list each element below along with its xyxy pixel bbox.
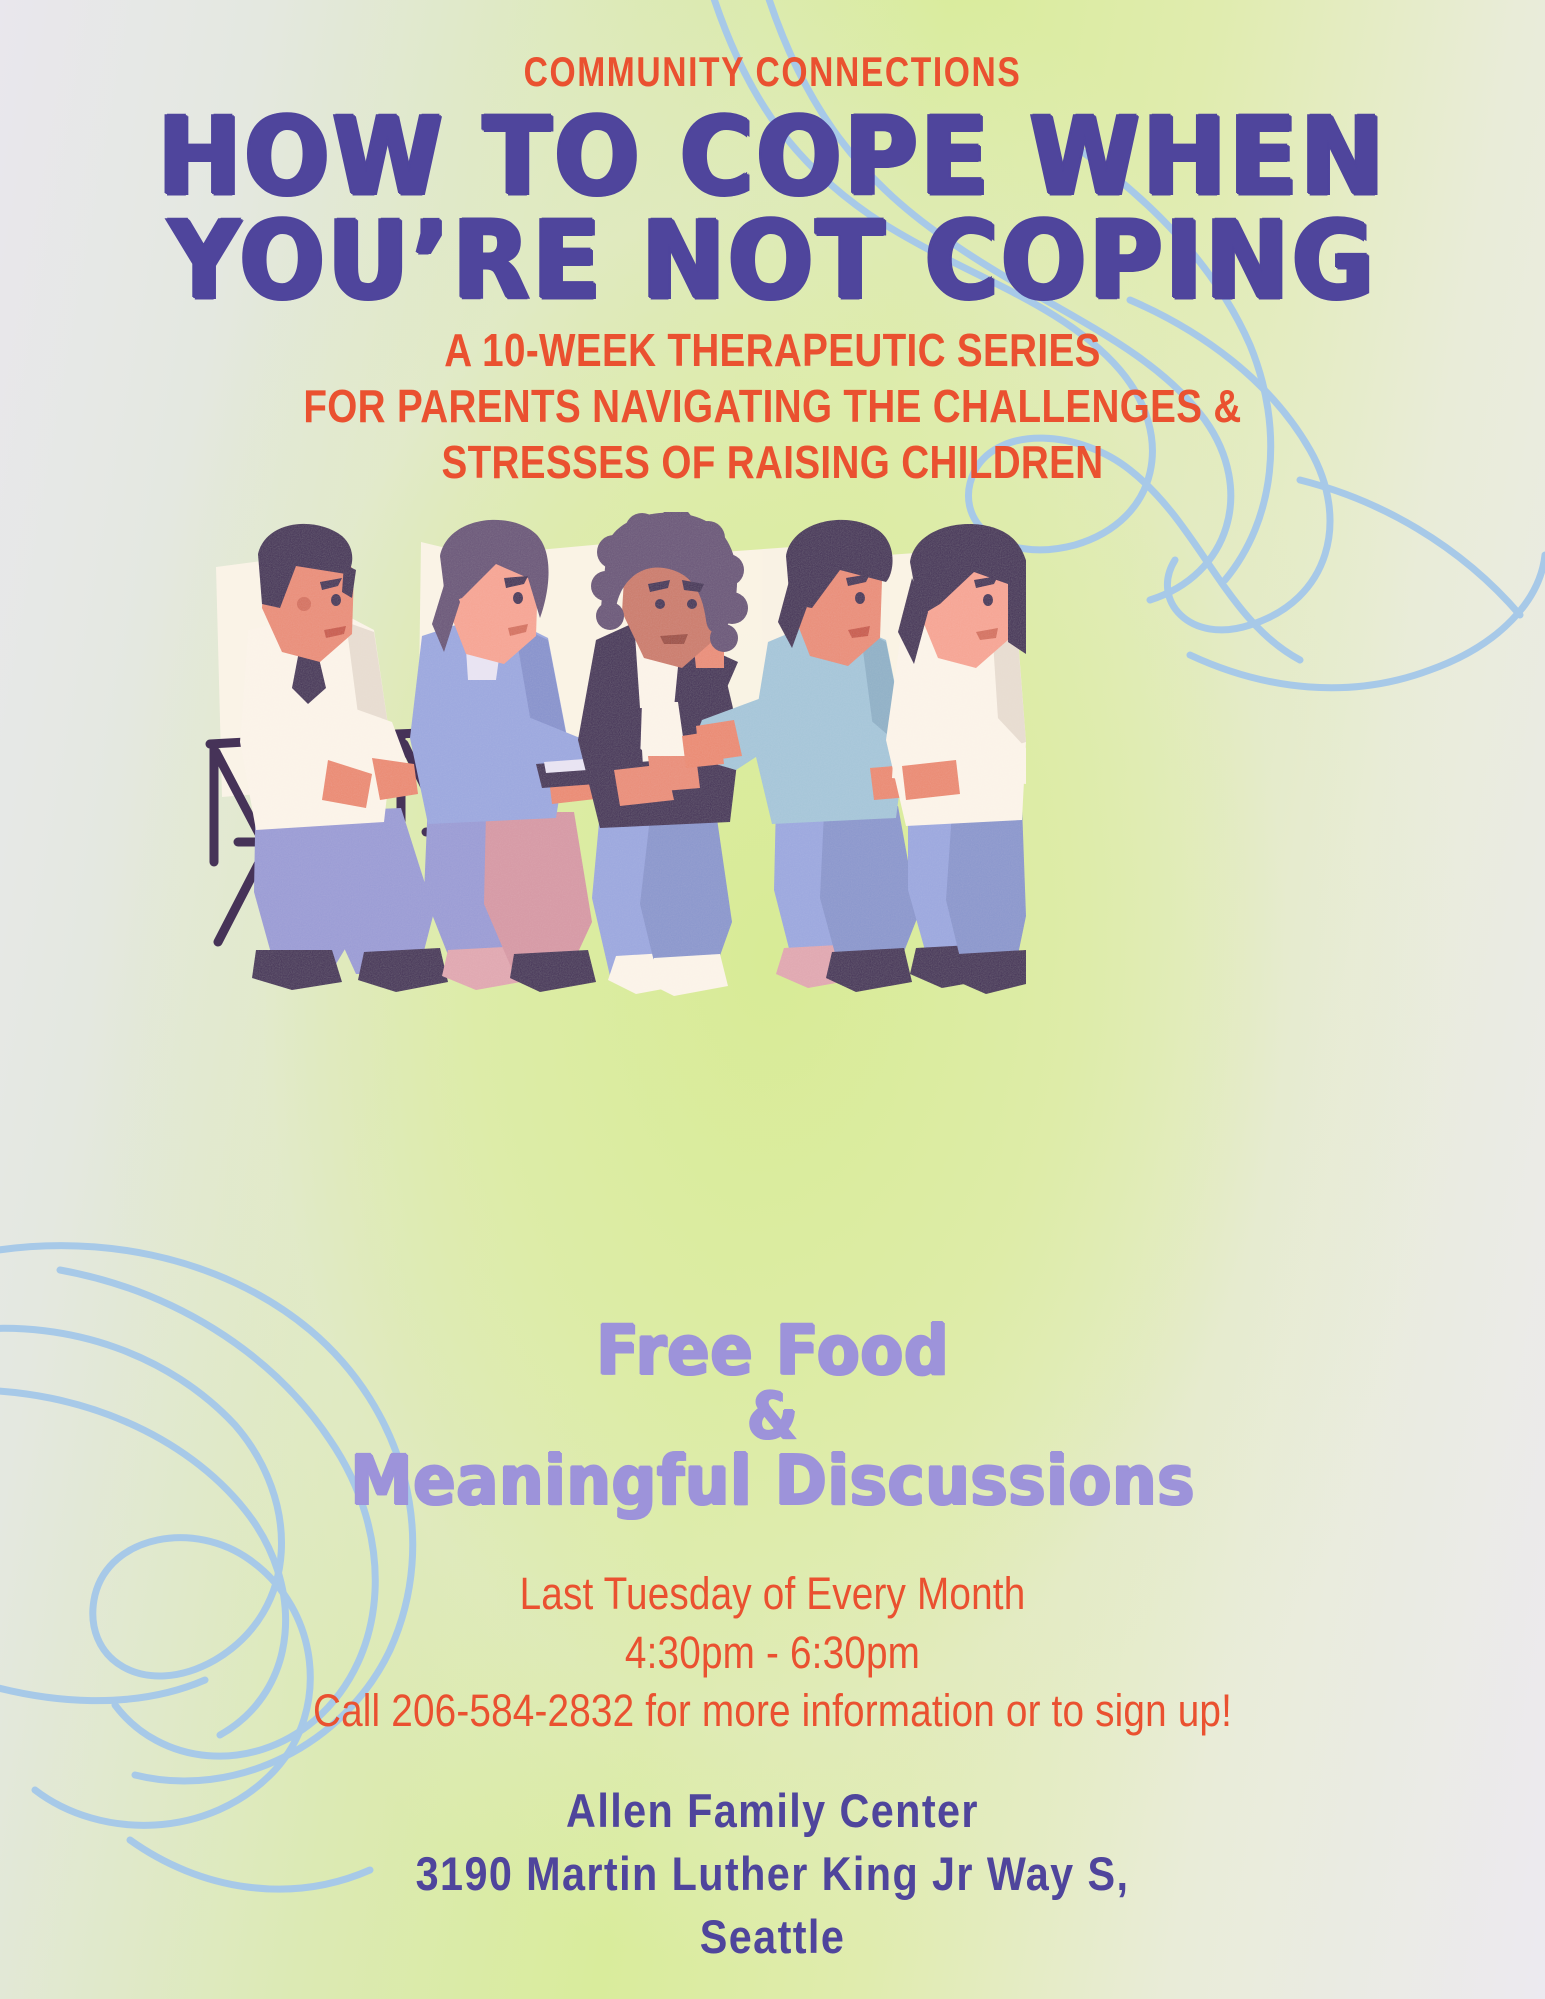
venue-street: 3190 Martin Luther King Jr Way S, [93, 1843, 1453, 1906]
page-title: HOW TO COPE WHEN YOU’RE NOT COPING [0, 108, 1545, 312]
venue-name: Allen Family Center [93, 1780, 1453, 1843]
poster-canvas: COMMUNITY CONNECTIONS HOW TO COPE WHEN Y… [0, 0, 1545, 1999]
subtitle: A 10-WEEK THERAPEUTIC SERIES FOR PARENTS… [0, 322, 1545, 490]
group-therapy-illustration [196, 512, 1026, 1012]
venue-address: Allen Family Center 3190 Martin Luther K… [0, 1780, 1545, 1969]
venue-city: Seattle [93, 1906, 1453, 1969]
offer-text: Free Food & Meaningful Discussions [0, 1318, 1545, 1515]
offer-line-1: Free Food [0, 1315, 1545, 1389]
subtitle-line-3: STRESSES OF RAISING CHILDREN [124, 434, 1422, 490]
subtitle-line-1: A 10-WEEK THERAPEUTIC SERIES [124, 322, 1422, 378]
title-line-2: YOU’RE NOT COPING [15, 209, 1529, 315]
schedule-and-contact: Last Tuesday of Every Month 4:30pm - 6:3… [0, 1565, 1545, 1741]
offer-line-3: Meaningful Discussions [0, 1444, 1545, 1518]
title-line-1: HOW TO COPE WHEN [15, 105, 1529, 211]
schedule-frequency: Last Tuesday of Every Month [108, 1565, 1437, 1624]
schedule-time: 4:30pm - 6:30pm [108, 1624, 1437, 1683]
subtitle-line-2: FOR PARENTS NAVIGATING THE CHALLENGES & [124, 378, 1422, 434]
kicker-text: COMMUNITY CONNECTIONS [155, 48, 1391, 96]
contact-phone-line: Call 206-584-2832 for more information o… [108, 1682, 1437, 1741]
